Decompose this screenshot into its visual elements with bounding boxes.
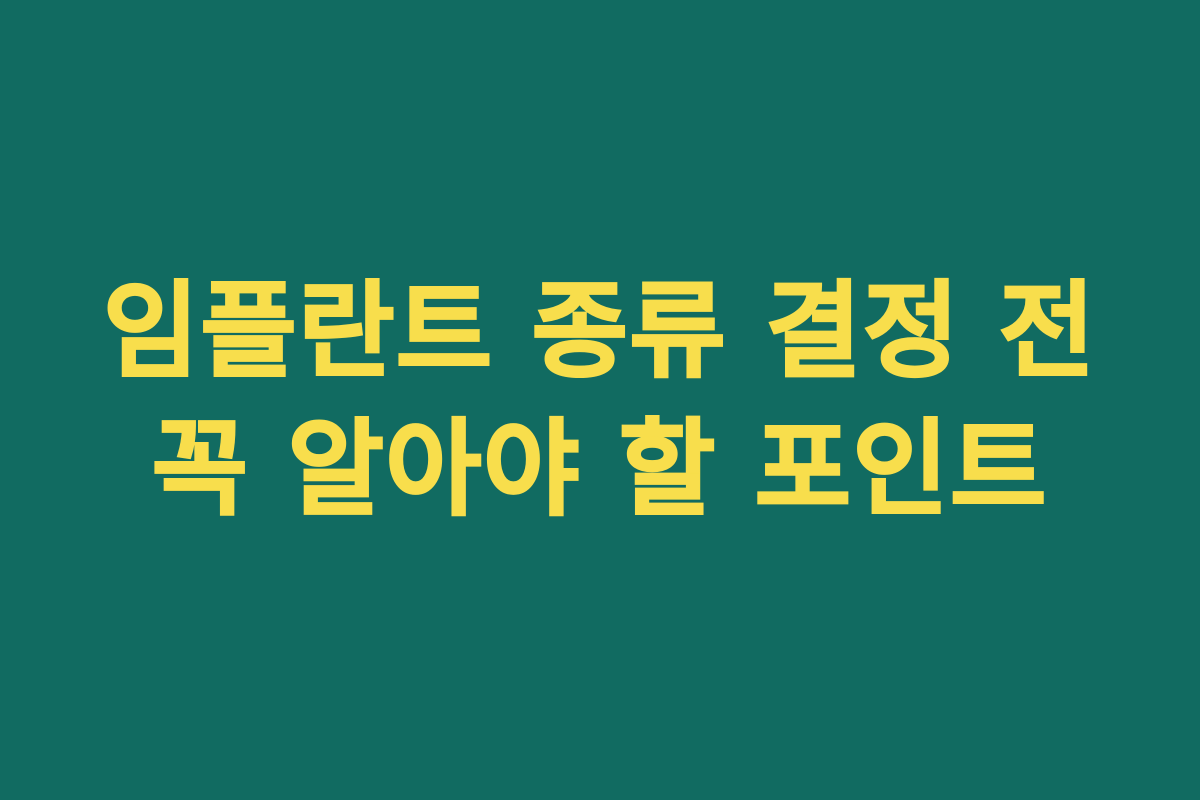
banner-canvas: 임플란트 종류 결정 전 꼭 알아야 할 포인트 bbox=[0, 0, 1200, 800]
headline-line-2: 꼭 알아야 할 포인트 bbox=[152, 400, 1048, 538]
headline-block: 임플란트 종류 결정 전 꼭 알아야 할 포인트 bbox=[0, 262, 1200, 538]
headline-line-1: 임플란트 종류 결정 전 bbox=[103, 262, 1097, 400]
